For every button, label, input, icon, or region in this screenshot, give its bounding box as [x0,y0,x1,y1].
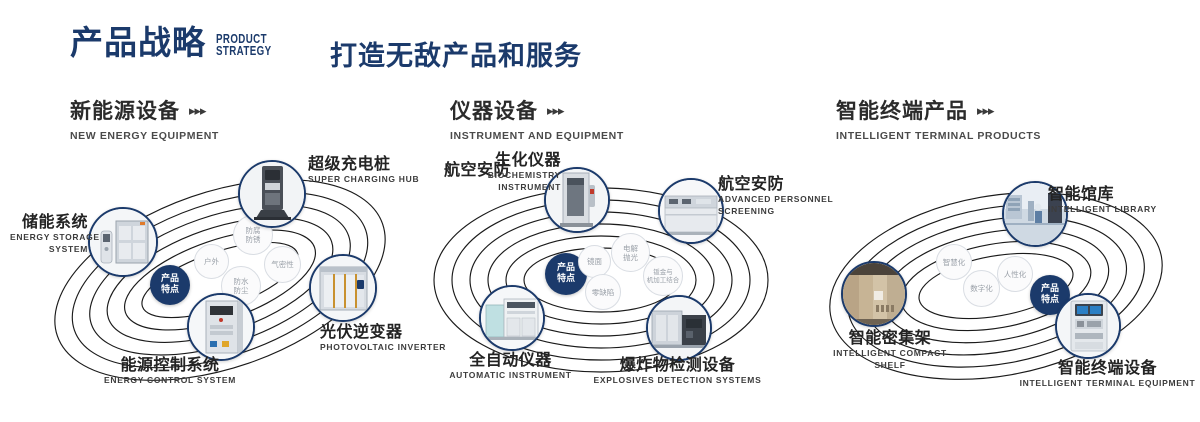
detection-system-photo [648,297,710,359]
section-title-en: INSTRUMENT AND EQUIPMENT [450,130,624,142]
core-feature-line2: 特点 [557,274,575,284]
node-automatic-instrument[interactable] [479,285,545,351]
feature-bubble-intelligence: 智慧化 [936,244,972,280]
core-feature-line2: 特点 [1041,295,1059,305]
section-title-new-energy: 新能源设备 ▸▸▸ NEW ENERGY EQUIPMENT [70,95,219,142]
section-title-cn: 新能源设备 [70,95,180,125]
inverter-photo [311,256,375,320]
label-explosives-detection-systems: 爆炸物检测设备 EXPLOSIVES DETECTION SYSTEMS [590,355,765,386]
page-title-en-line2: STRATEGY [216,45,271,57]
feature-label: 人性化 [1004,270,1027,279]
charging-pile-photo [240,162,304,226]
feature-label: 智慧化 [943,258,966,267]
feature-label-line2: 抛光 [623,253,638,262]
label-energy-control-system: 能源控制系统 ENERGY CONTROL SYSTEM [80,355,260,386]
feature-label-line2: 防锈 [246,235,261,244]
label-en-line1: EXPLOSIVES DETECTION SYSTEMS [590,375,765,386]
feature-bubble-mirror: 镜面 [578,245,611,278]
core-feature-line2: 特点 [161,285,179,295]
cluster-intelligent-terminal: 智慧化 数字化 人性化 产品 特点 [800,150,1200,400]
cluster-new-energy: 产品 特点 户外 防腐 防锈 防水 防尘 气密性 [20,150,420,400]
section-title-cn: 仪器设备 [450,95,538,125]
chevron-right-icon: ▸▸▸ [189,104,206,117]
page-title: 产品战略 PRODUCT STRATEGY [70,26,287,59]
feature-label: 数字化 [970,284,993,293]
node-energy-storage-system[interactable] [88,207,158,277]
label-biochemistry-instrument: 生化仪器 BIOCHEMISTRY INSTRUMENT [435,150,561,193]
label-cn: 智能密集架 [795,328,985,347]
label-en-line1: ENERGY CONTROL SYSTEM [80,375,260,386]
core-feature-line1: 产品 [557,263,575,273]
product-strategy-infographic: 产品战略 PRODUCT STRATEGY 打造无敌产品和服务 新能源设备 ▸▸… [0,0,1200,422]
node-explosives-detection-systems[interactable] [646,295,712,361]
feature-label: 零缺陷 [592,288,615,297]
page-title-en: PRODUCT STRATEGY [216,33,271,57]
label-en-line1: BIOCHEMISTRY [435,170,561,181]
label-en-line2: INSTRUMENT [435,182,561,193]
label-cn: 能源控制系统 [80,355,260,374]
label-energy-storage-system: 储能系统 ENERGY STORAGE SYSTEM [10,212,88,255]
chevron-right-icon: ▸▸▸ [977,104,994,117]
label-en-line2: SYSTEM [10,244,88,255]
feature-label: 气密性 [271,260,294,269]
label-en-line1: ENERGY STORAGE [10,232,88,243]
cluster-instrument: 产品 特点 镜面 电解 抛光 零缺陷 钣金与 机加工结合 [405,150,805,400]
label-cn: 全自动仪器 [423,350,598,369]
node-intelligent-terminal-equipment[interactable] [1055,293,1121,359]
label-cn: 智能馆库 [1048,184,1157,203]
core-feature-line1: 产品 [161,274,179,284]
label-en-line2: SHELF [795,360,985,371]
label-automatic-instrument: 全自动仪器 AUTOMATIC INSTRUMENT [423,350,598,381]
terminal-kiosk-photo [1057,295,1119,357]
label-en-line1: INTELLIGENT TERMINAL EQUIPMENT [1015,378,1200,389]
feature-bubble-sheetmetal-machining: 钣金与 机加工结合 [643,256,683,296]
section-title-instrument: 仪器设备 ▸▸▸ INSTRUMENT AND EQUIPMENT [450,95,624,142]
label-intelligent-terminal-equipment: 智能终端设备 INTELLIGENT TERMINAL EQUIPMENT [1015,358,1200,389]
screening-machine-photo [660,180,722,242]
feature-bubble-digitalization: 数字化 [963,270,1000,307]
cabinet-photo [90,209,156,275]
feature-label-line1: 防水 [234,277,249,286]
feature-label: 户外 [204,257,219,266]
feature-label-line2: 防尘 [234,286,249,295]
feature-label-line1: 防腐 [246,226,261,235]
feature-bubble-humanization: 人性化 [997,256,1033,292]
core-feature-line1: 产品 [1041,284,1059,294]
chevron-right-icon: ▸▸▸ [547,104,564,117]
feature-bubble-zero-defect: 零缺陷 [585,274,621,310]
page-subtitle: 打造无敌产品和服务 [330,34,582,73]
section-title-en: NEW ENERGY EQUIPMENT [70,130,219,142]
feature-label-line1: 钣金与 [653,268,673,276]
feature-label: 镜面 [587,257,602,266]
node-energy-control-system[interactable] [187,293,255,361]
label-intelligent-compact-shelf: 智能密集架 INTELLIGENT COMPACT SHELF [795,328,985,371]
label-intelligent-library: 智能馆库 INTELLIGENT LIBRARY [1048,184,1157,215]
label-en-line1: INTELLIGENT LIBRARY [1048,204,1157,215]
feature-label-line2: 机加工结合 [647,276,680,284]
node-intelligent-compact-shelf[interactable] [841,261,907,327]
label-cn: 智能终端设备 [1015,358,1200,377]
feature-label-line1: 电解 [623,244,638,253]
page-title-cn: 产品战略 [70,26,206,59]
core-feature-bubble: 产品 特点 [150,265,190,305]
node-photovoltaic-inverter[interactable] [309,254,377,322]
feature-bubble-airtightness: 气密性 [264,246,301,283]
control-cabinet-photo [189,295,253,359]
label-cn: 储能系统 [10,212,88,231]
label-en-line1: INTELLIGENT COMPACT [795,348,985,359]
label-cn: 生化仪器 [435,150,561,169]
node-super-charging-hub[interactable] [238,160,306,228]
compact-shelf-photo [843,263,905,325]
section-title-en: INTELLIGENT TERMINAL PRODUCTS [836,130,1041,142]
label-cn: 爆炸物检测设备 [590,355,765,374]
automatic-analyzer-photo [481,287,543,349]
section-title-intelligent-terminal: 智能终端产品 ▸▸▸ INTELLIGENT TERMINAL PRODUCTS [836,95,1041,142]
node-advanced-personnel-screening[interactable] [658,178,724,244]
section-title-cn: 智能终端产品 [836,95,968,125]
label-en-line1: AUTOMATIC INSTRUMENT [423,370,598,381]
